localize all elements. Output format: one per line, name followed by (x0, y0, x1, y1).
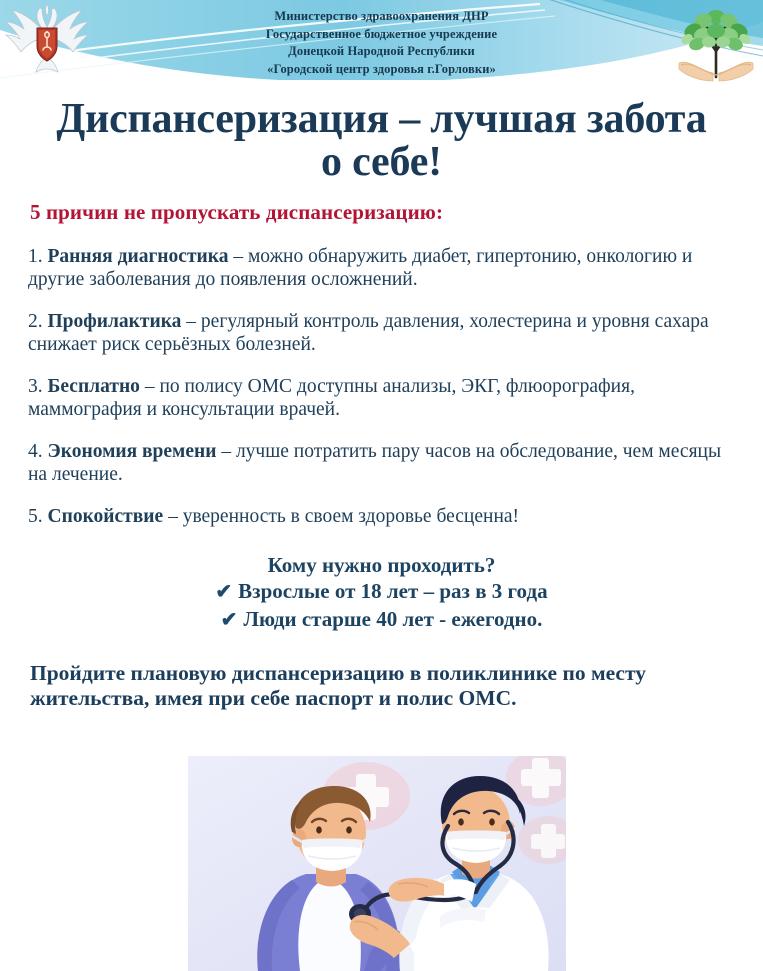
reason-number-3: 3. (28, 376, 43, 397)
header-line-2: Государственное бюджетное учреждение (0, 26, 763, 44)
check-icon: ✔ (221, 607, 238, 634)
reason-number-5: 5. (28, 506, 43, 527)
page-title: Диспансеризация – лучшая забота о себе! (0, 98, 763, 184)
who-item-1-label: Взрослые от 18 лет – раз в 3 года (238, 579, 547, 603)
reasons-list: 1. Ранняя диагностика – можно обнаружить… (28, 245, 733, 528)
header-line-1: Министерство здравоохранения ДНР (0, 8, 763, 26)
reason-item-3: 3. Бесплатно – по полису ОМС доступны ан… (28, 375, 733, 421)
reason-title-2: Профилактика (48, 311, 182, 332)
check-icon: ✔ (215, 579, 232, 606)
reason-number-1: 1. (28, 246, 43, 267)
who-should-attend-section: Кому нужно проходить? ✔Взрослые от 18 ле… (0, 552, 763, 634)
reason-title-3: Бесплатно (48, 376, 140, 397)
header-line-3: Донецкой Народной Республики (0, 43, 763, 61)
who-section-title: Кому нужно проходить? (0, 552, 763, 578)
page-title-line-1: Диспансеризация – лучшая забота (56, 96, 706, 142)
reasons-subheading: 5 причин не пропускать диспансеризацию: (30, 200, 763, 225)
who-item-1: ✔Взрослые от 18 лет – раз в 3 года (0, 578, 763, 606)
reason-item-2: 2. Профилактика – регулярный контроль да… (28, 310, 733, 356)
header-organization-text: Министерство здравоохранения ДНР Государ… (0, 8, 763, 78)
page-title-line-2: о себе! (0, 141, 763, 184)
reason-title-5: Спокойствие (48, 506, 164, 527)
page-header: Министерство здравоохранения ДНР Государ… (0, 0, 763, 92)
reason-item-4: 4. Экономия времени – лучше потратить па… (28, 440, 733, 486)
reason-title-4: Экономия времени (48, 441, 217, 462)
reason-item-5: 5. Спокойствие – уверенность в своем здо… (28, 505, 733, 528)
reason-item-1: 1. Ранняя диагностика – можно обнаружить… (28, 245, 733, 291)
doctor-examining-patient-illustration (188, 756, 566, 971)
illustration-container (188, 756, 566, 971)
header-line-4: «Городской центр здоровья г.Горловки» (0, 61, 763, 79)
reason-text-5: – уверенность в своем здоровье бесценна! (163, 506, 519, 527)
reason-number-4: 4. (28, 441, 43, 462)
call-to-action-text: Пройдите плановую диспансеризацию в поли… (30, 661, 733, 711)
who-item-2-label: Люди старше 40 лет - ежегодно. (243, 607, 542, 631)
reason-number-2: 2. (28, 311, 43, 332)
who-item-2: ✔Люди старше 40 лет - ежегодно. (0, 606, 763, 634)
reason-title-1: Ранняя диагностика (48, 246, 229, 267)
